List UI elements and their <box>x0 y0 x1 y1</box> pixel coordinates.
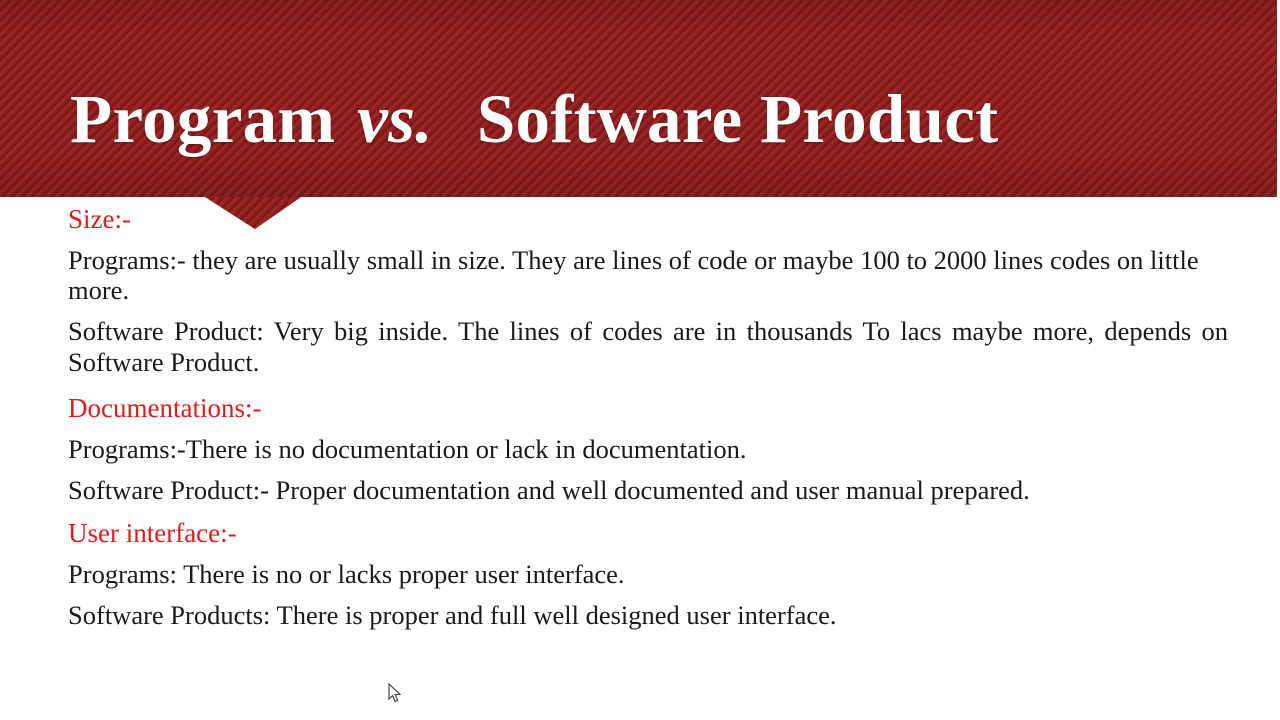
paragraph-size-software-product: Software Product: Very big inside. The l… <box>68 316 1228 376</box>
presentation-slide: Programvs.Software Product Size:- Progra… <box>0 0 1280 720</box>
section-heading-documentations: Documentations:- <box>68 395 1228 422</box>
paragraph-documentation-programs: Programs:-There is no documentation or l… <box>68 434 1228 464</box>
title-part-two: Software Product <box>477 81 999 157</box>
paragraph-documentation-software-product: Software Product:- Proper documentation … <box>68 475 1228 505</box>
paragraph-ui-software-products: Software Products: There is proper and f… <box>68 600 1228 630</box>
title-emphasis-vs: vs. <box>357 81 433 157</box>
section-heading-size: Size:- <box>68 206 1228 233</box>
paragraph-ui-programs: Programs: There is no or lacks proper us… <box>68 559 1228 589</box>
mouse-pointer-icon <box>388 683 402 703</box>
section-heading-user-interface: User interface:- <box>68 520 1228 547</box>
slide-body-content: Size:- Programs:- they are usually small… <box>68 206 1228 642</box>
page-title: Programvs.Software Product <box>70 82 1230 158</box>
title-part-one: Program <box>70 81 335 157</box>
paragraph-size-programs: Programs:- they are usually small in siz… <box>68 245 1228 305</box>
